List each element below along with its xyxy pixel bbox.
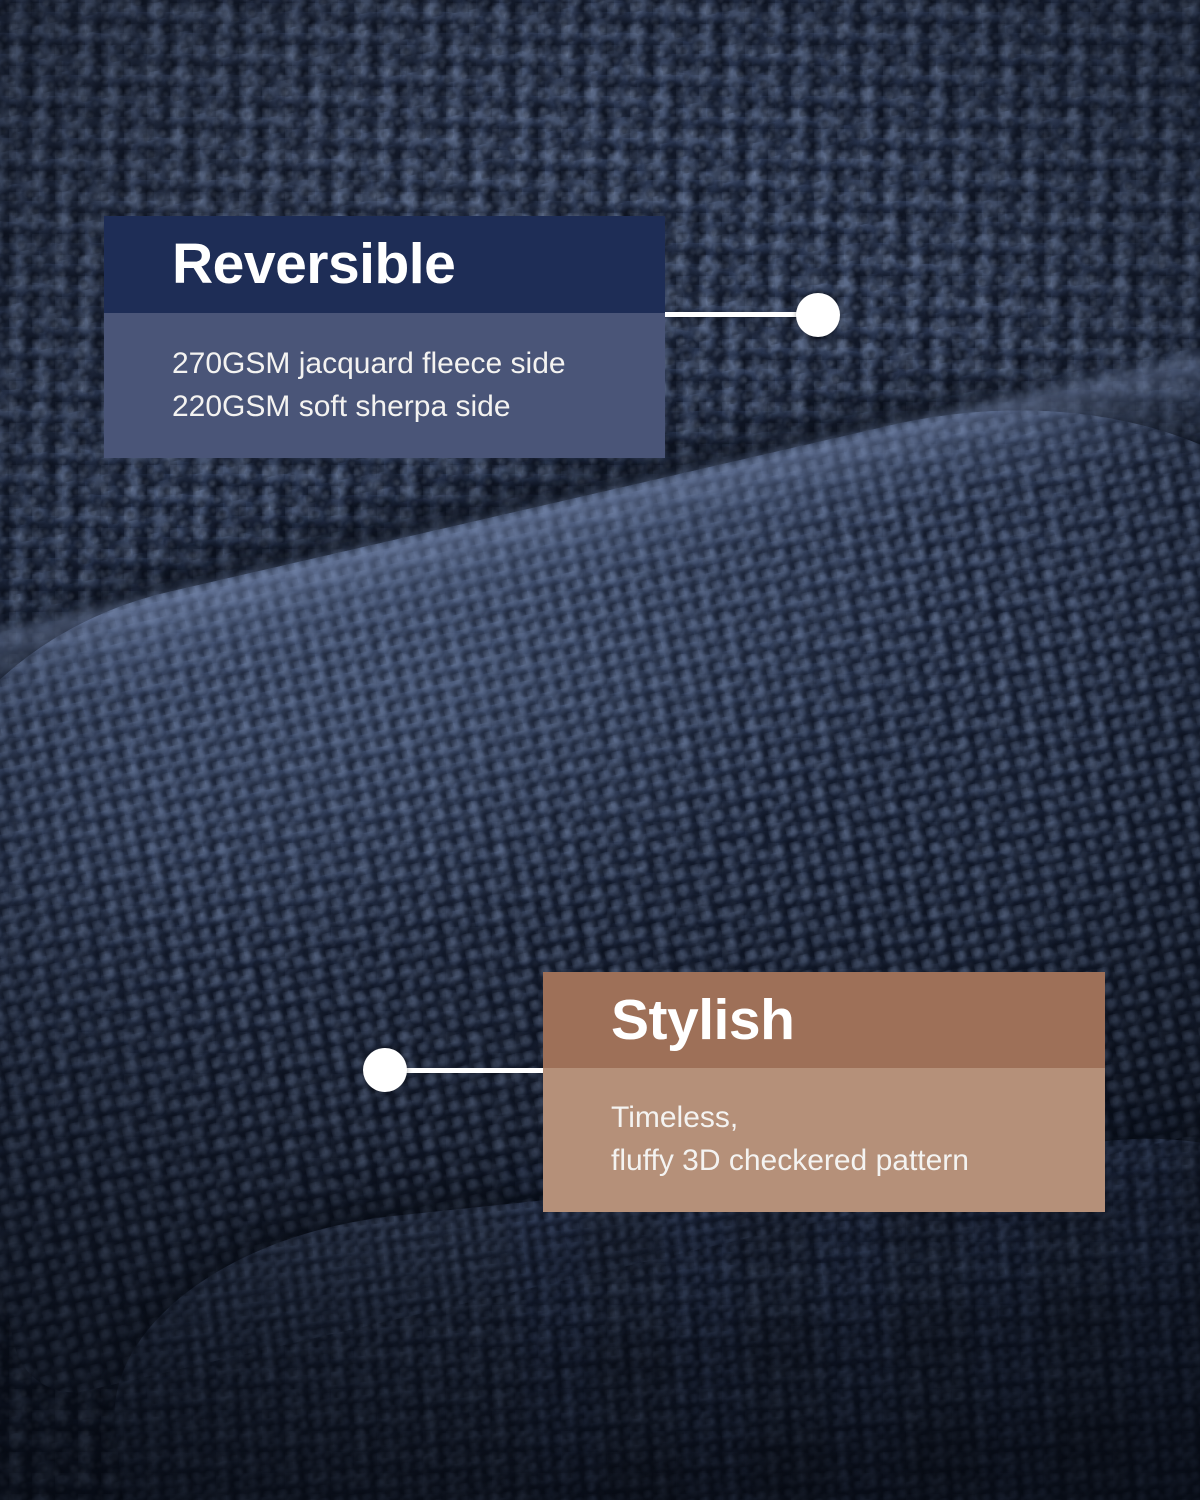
product-feature-image: Reversible 270GSM jacquard fleece side 2… [0, 0, 1200, 1500]
leader-dot-reversible [796, 293, 840, 337]
leader-line-reversible [663, 312, 808, 317]
callout-reversible-body: 270GSM jacquard fleece side 220GSM soft … [104, 313, 665, 458]
callout-reversible: Reversible 270GSM jacquard fleece side 2… [104, 216, 665, 458]
callout-stylish-body: Timeless, fluffy 3D checkered pattern [543, 1068, 1105, 1212]
callout-stylish: Stylish Timeless, fluffy 3D checkered pa… [543, 972, 1105, 1212]
leader-line-stylish [400, 1068, 545, 1073]
callout-reversible-title: Reversible [172, 236, 455, 293]
callout-stylish-title: Stylish [611, 992, 794, 1049]
leader-dot-stylish [363, 1048, 407, 1092]
callout-reversible-line-2: 220GSM soft sherpa side [172, 386, 665, 429]
callout-stylish-header: Stylish [543, 972, 1105, 1068]
callout-reversible-header: Reversible [104, 216, 665, 313]
callout-stylish-line-2: fluffy 3D checkered pattern [611, 1140, 1105, 1183]
callout-reversible-line-1: 270GSM jacquard fleece side [172, 343, 665, 386]
callout-stylish-line-1: Timeless, [611, 1097, 1105, 1140]
